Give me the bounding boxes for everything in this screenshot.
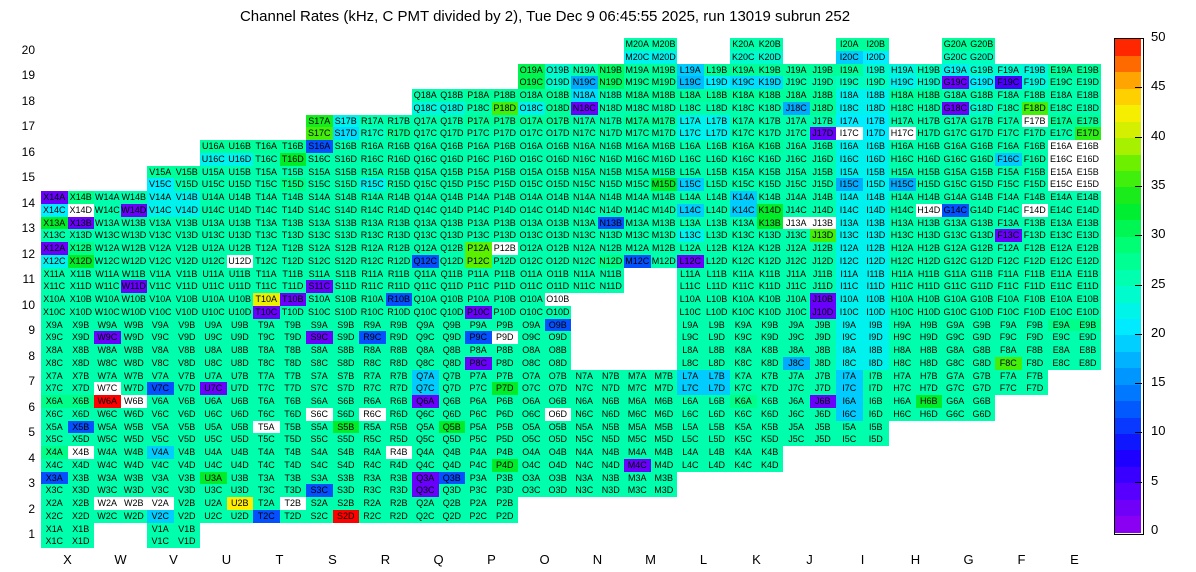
channel-L15D[interactable]: L15D — [704, 178, 731, 191]
channel-W4C[interactable]: W4C — [94, 459, 121, 472]
channel-V5A[interactable]: V5A — [147, 421, 174, 434]
channel-N5A[interactable]: N5A — [571, 421, 598, 434]
channel-V10B[interactable]: V10B — [174, 293, 201, 306]
channel-K13D[interactable]: K13D — [757, 229, 784, 242]
channel-O14D[interactable]: O14D — [545, 204, 572, 217]
channel-X10A[interactable]: X10A — [41, 293, 68, 306]
channel-X6A[interactable]: X6A — [41, 395, 68, 408]
channel-M17D[interactable]: M17D — [651, 127, 678, 140]
channel-W7D[interactable]: W7D — [121, 382, 148, 395]
channel-Q2D[interactable]: Q2D — [439, 510, 466, 523]
channel-V9B[interactable]: V9B — [174, 319, 201, 332]
channel-L13C[interactable]: L13C — [677, 229, 704, 242]
heatmap-cell[interactable]: G6AG6BG6CG6D — [942, 395, 995, 421]
heatmap-cell[interactable]: X6AX6BX6CX6D — [41, 395, 94, 421]
channel-U5A[interactable]: U5A — [200, 421, 227, 434]
channel-E12B[interactable]: E12B — [1075, 242, 1102, 255]
channel-E8D[interactable]: E8D — [1075, 357, 1102, 370]
channel-T16B[interactable]: T16B — [280, 140, 307, 153]
channel-L5C[interactable]: L5C — [677, 433, 704, 446]
channel-S17B[interactable]: S17B — [333, 115, 360, 128]
channel-Q4C[interactable]: Q4C — [412, 459, 439, 472]
channel-F19B[interactable]: F19B — [1022, 64, 1049, 77]
channel-M17B[interactable]: M17B — [651, 115, 678, 128]
channel-Q11A[interactable]: Q11A — [412, 268, 439, 281]
channel-G17A[interactable]: G17A — [942, 115, 969, 128]
channel-P2C[interactable]: P2C — [465, 510, 492, 523]
channel-H19B[interactable]: H19B — [916, 64, 943, 77]
channel-G18B[interactable]: G18B — [969, 89, 996, 102]
channel-S17C[interactable]: S17C — [306, 127, 333, 140]
heatmap-cell[interactable]: L12AL12BL12CL12D — [677, 242, 730, 268]
channel-J17D[interactable]: J17D — [810, 127, 837, 140]
channel-W13B[interactable]: W13B — [121, 217, 148, 230]
channel-E15B[interactable]: E15B — [1075, 166, 1102, 179]
channel-Q3B[interactable]: Q3B — [439, 472, 466, 485]
channel-S3D[interactable]: S3D — [333, 484, 360, 497]
channel-K17C[interactable]: K17C — [730, 127, 757, 140]
channel-T8B[interactable]: T8B — [280, 344, 307, 357]
heatmap-cell[interactable]: H13AH13BH13CH13D — [889, 217, 942, 243]
channel-L16A[interactable]: L16A — [677, 140, 704, 153]
heatmap-cell[interactable]: Q4AQ4BQ4CQ4D — [412, 446, 465, 472]
channel-R6A[interactable]: R6A — [359, 395, 386, 408]
channel-X12A[interactable]: X12A — [41, 242, 68, 255]
heatmap-cell[interactable]: X14AX14BX14CX14D — [41, 191, 94, 217]
channel-P7D[interactable]: P7D — [492, 382, 519, 395]
channel-W6B[interactable]: W6B — [121, 395, 148, 408]
channel-N6B[interactable]: N6B — [598, 395, 625, 408]
channel-I8A[interactable]: I8A — [836, 344, 863, 357]
channel-N4C[interactable]: N4C — [571, 459, 598, 472]
channel-I14C[interactable]: I14C — [836, 204, 863, 217]
channel-T9A[interactable]: T9A — [253, 319, 280, 332]
channel-J13B[interactable]: J13B — [810, 217, 837, 230]
channel-V2A[interactable]: V2A — [147, 497, 174, 510]
channel-T3A[interactable]: T3A — [253, 472, 280, 485]
heatmap-cell[interactable]: F14AF14BF14CF14D — [995, 191, 1048, 217]
channel-P15B[interactable]: P15B — [492, 166, 519, 179]
channel-U8B[interactable]: U8B — [227, 344, 254, 357]
heatmap-cell[interactable]: L8AL8BL8CL8D — [677, 344, 730, 370]
channel-G17B[interactable]: G17B — [969, 115, 996, 128]
channel-V2D[interactable]: V2D — [174, 510, 201, 523]
channel-R11A[interactable]: R11A — [359, 268, 386, 281]
channel-O8B[interactable]: O8B — [545, 344, 572, 357]
channel-F10D[interactable]: F10D — [1022, 306, 1049, 319]
channel-K9A[interactable]: K9A — [730, 319, 757, 332]
channel-J17A[interactable]: J17A — [783, 115, 810, 128]
channel-S8C[interactable]: S8C — [306, 357, 333, 370]
channel-I19B[interactable]: I19B — [863, 64, 890, 77]
channel-G11C[interactable]: G11C — [942, 280, 969, 293]
heatmap-cell[interactable]: V11AV11BV11CV11D — [147, 268, 200, 294]
channel-H17D[interactable]: H17D — [916, 127, 943, 140]
channel-E19A[interactable]: E19A — [1048, 64, 1075, 77]
channel-H17A[interactable]: H17A — [889, 115, 916, 128]
channel-O5A[interactable]: O5A — [518, 421, 545, 434]
channel-F11C[interactable]: F11C — [995, 280, 1022, 293]
channel-K5B[interactable]: K5B — [757, 421, 784, 434]
channel-R2B[interactable]: R2B — [386, 497, 413, 510]
channel-O17D[interactable]: O17D — [545, 127, 572, 140]
heatmap-cell[interactable]: G8AG8BG8CG8D — [942, 344, 995, 370]
channel-H16A[interactable]: H16A — [889, 140, 916, 153]
channel-G9C[interactable]: G9C — [942, 331, 969, 344]
channel-V14C[interactable]: V14C — [147, 204, 174, 217]
heatmap-cell[interactable]: I10AI10BI10CI10D — [836, 293, 889, 319]
channel-Q10C[interactable]: Q10C — [412, 306, 439, 319]
channel-I12B[interactable]: I12B — [863, 242, 890, 255]
channel-F8D[interactable]: F8D — [1022, 357, 1049, 370]
channel-V1C[interactable]: V1C — [147, 535, 174, 548]
channel-F12B[interactable]: F12B — [1022, 242, 1049, 255]
channel-O7B[interactable]: O7B — [545, 370, 572, 383]
heatmap-cell[interactable]: K7AK7BK7CK7D — [730, 370, 783, 396]
channel-H16C[interactable]: H16C — [889, 153, 916, 166]
channel-U9C[interactable]: U9C — [200, 331, 227, 344]
heatmap-cell[interactable]: T3AT3BT3CT3D — [253, 472, 306, 498]
channel-K5C[interactable]: K5C — [730, 433, 757, 446]
channel-U10D[interactable]: U10D — [227, 306, 254, 319]
channel-F18D[interactable]: F18D — [1022, 102, 1049, 115]
channel-K18D[interactable]: K18D — [757, 102, 784, 115]
channel-M4C[interactable]: M4C — [624, 459, 651, 472]
channel-I7B[interactable]: I7B — [863, 370, 890, 383]
channel-J17B[interactable]: J17B — [810, 115, 837, 128]
channel-V2C[interactable]: V2C — [147, 510, 174, 523]
channel-N6A[interactable]: N6A — [571, 395, 598, 408]
channel-N16D[interactable]: N16D — [598, 153, 625, 166]
heatmap-cell[interactable]: U16AU16BU16CU16D — [200, 140, 253, 166]
channel-G7C[interactable]: G7C — [942, 382, 969, 395]
channel-I7A[interactable]: I7A — [836, 370, 863, 383]
channel-W7A[interactable]: W7A — [94, 370, 121, 383]
channel-Q3A[interactable]: Q3A — [412, 472, 439, 485]
channel-U11D[interactable]: U11D — [227, 280, 254, 293]
channel-L13A[interactable]: L13A — [677, 217, 704, 230]
channel-F12A[interactable]: F12A — [995, 242, 1022, 255]
channel-T3C[interactable]: T3C — [253, 484, 280, 497]
channel-H15B[interactable]: H15B — [916, 166, 943, 179]
channel-Q11D[interactable]: Q11D — [439, 280, 466, 293]
heatmap-cell[interactable]: W3AW3BW3CW3D — [94, 472, 147, 498]
channel-S2D[interactable]: S2D — [333, 510, 360, 523]
channel-Q11B[interactable]: Q11B — [439, 268, 466, 281]
channel-E10B[interactable]: E10B — [1075, 293, 1102, 306]
channel-J19C[interactable]: J19C — [783, 76, 810, 89]
channel-X6D[interactable]: X6D — [68, 408, 95, 421]
heatmap-cell[interactable]: P7AP7BP7CP7D — [465, 370, 518, 396]
channel-N5C[interactable]: N5C — [571, 433, 598, 446]
channel-Q15A[interactable]: Q15A — [412, 166, 439, 179]
heatmap-cell[interactable]: S6AS6BS6CS6D — [306, 395, 359, 421]
channel-R13C[interactable]: R13C — [359, 229, 386, 242]
channel-N17C[interactable]: N17C — [571, 127, 598, 140]
channel-J15A[interactable]: J15A — [783, 166, 810, 179]
heatmap-cell[interactable]: P15AP15BP15CP15D — [465, 166, 518, 192]
channel-Q15D[interactable]: Q15D — [439, 178, 466, 191]
heatmap-cell[interactable]: G20AG20BG20CG20D — [942, 38, 995, 64]
channel-P4A[interactable]: P4A — [465, 446, 492, 459]
channel-Q15C[interactable]: Q15C — [412, 178, 439, 191]
channel-G10D[interactable]: G10D — [969, 306, 996, 319]
channel-V1A[interactable]: V1A — [147, 523, 174, 536]
heatmap-cell[interactable]: K18AK18BK18CK18D — [730, 89, 783, 115]
channel-W13A[interactable]: W13A — [94, 217, 121, 230]
channel-V9D[interactable]: V9D — [174, 331, 201, 344]
channel-U9A[interactable]: U9A — [200, 319, 227, 332]
channel-X8D[interactable]: X8D — [68, 357, 95, 370]
channel-P16B[interactable]: P16B — [492, 140, 519, 153]
channel-F17A[interactable]: F17A — [995, 115, 1022, 128]
channel-X5D[interactable]: X5D — [68, 433, 95, 446]
heatmap-cell[interactable]: U14AU14BU14CU14D — [200, 191, 253, 217]
channel-I10D[interactable]: I10D — [863, 306, 890, 319]
channel-L12B[interactable]: L12B — [704, 242, 731, 255]
channel-J13C[interactable]: J13C — [783, 229, 810, 242]
channel-F15B[interactable]: F15B — [1022, 166, 1049, 179]
channel-V4A[interactable]: V4A — [147, 446, 174, 459]
channel-V8D[interactable]: V8D — [174, 357, 201, 370]
channel-W8B[interactable]: W8B — [121, 344, 148, 357]
channel-H7C[interactable]: H7C — [889, 382, 916, 395]
channel-L8C[interactable]: L8C — [677, 357, 704, 370]
channel-P13D[interactable]: P13D — [492, 229, 519, 242]
channel-N4B[interactable]: N4B — [598, 446, 625, 459]
channel-O15C[interactable]: O15C — [518, 178, 545, 191]
channel-S4C[interactable]: S4C — [306, 459, 333, 472]
channel-T11A[interactable]: T11A — [253, 268, 280, 281]
channel-N18D[interactable]: N18D — [598, 102, 625, 115]
heatmap-cell[interactable]: J13AJ13BJ13CJ13D — [783, 217, 836, 243]
heatmap-cell[interactable]: U15AU15BU15CU15D — [200, 166, 253, 192]
channel-Q17C[interactable]: Q17C — [412, 127, 439, 140]
channel-O19D[interactable]: O19D — [545, 76, 572, 89]
heatmap-cell[interactable]: H15AH15BH15CH15D — [889, 166, 942, 192]
channel-S17A[interactable]: S17A — [306, 115, 333, 128]
channel-T4D[interactable]: T4D — [280, 459, 307, 472]
channel-Q4B[interactable]: Q4B — [439, 446, 466, 459]
channel-S13C[interactable]: S13C — [306, 229, 333, 242]
channel-G10B[interactable]: G10B — [969, 293, 996, 306]
heatmap-cell[interactable]: X8AX8BX8CX8D — [41, 344, 94, 370]
channel-I13B[interactable]: I13B — [863, 217, 890, 230]
channel-R9D[interactable]: R9D — [386, 331, 413, 344]
channel-I11B[interactable]: I11B — [863, 268, 890, 281]
channel-Q17B[interactable]: Q17B — [439, 115, 466, 128]
channel-G8D[interactable]: G8D — [969, 357, 996, 370]
channel-J8D[interactable]: J8D — [810, 357, 837, 370]
channel-T8A[interactable]: T8A — [253, 344, 280, 357]
channel-G11D[interactable]: G11D — [969, 280, 996, 293]
channel-M19A[interactable]: M19A — [624, 64, 651, 77]
heatmap-cell[interactable]: S9AS9BS9CS9D — [306, 319, 359, 345]
channel-K19B[interactable]: K19B — [757, 64, 784, 77]
channel-V11C[interactable]: V11C — [147, 280, 174, 293]
channel-I12D[interactable]: I12D — [863, 255, 890, 268]
channel-E18C[interactable]: E18C — [1048, 102, 1075, 115]
channel-V9C[interactable]: V9C — [147, 331, 174, 344]
channel-G10A[interactable]: G10A — [942, 293, 969, 306]
channel-P8A[interactable]: P8A — [465, 344, 492, 357]
heatmap-cell[interactable]: J7AJ7BJ7CJ7D — [783, 370, 836, 396]
channel-X13C[interactable]: X13C — [41, 229, 68, 242]
heatmap-cell[interactable]: S17AS17BS17CS17D — [306, 115, 359, 141]
channel-M12D[interactable]: M12D — [651, 255, 678, 268]
heatmap-cell[interactable]: Q14AQ14BQ14CQ14D — [412, 191, 465, 217]
channel-U3C[interactable]: U3C — [200, 484, 227, 497]
channel-U5B[interactable]: U5B — [227, 421, 254, 434]
channel-T8D[interactable]: T8D — [280, 357, 307, 370]
channel-R17D[interactable]: R17D — [386, 127, 413, 140]
channel-F13D[interactable]: F13D — [1022, 229, 1049, 242]
channel-O18D[interactable]: O18D — [545, 102, 572, 115]
channel-R2C[interactable]: R2C — [359, 510, 386, 523]
channel-V3D[interactable]: V3D — [174, 484, 201, 497]
heatmap-cell[interactable]: P8AP8BP8CP8D — [465, 344, 518, 370]
channel-V11B[interactable]: V11B — [174, 268, 201, 281]
channel-P11D[interactable]: P11D — [492, 280, 519, 293]
heatmap-cell[interactable]: R5AR5BR5CR5D — [359, 421, 412, 447]
channel-K4C[interactable]: K4C — [730, 459, 757, 472]
heatmap-cell[interactable]: W10AW10BW10CW10D — [94, 293, 147, 319]
channel-Q10A[interactable]: Q10A — [412, 293, 439, 306]
channel-P13A[interactable]: P13A — [465, 217, 492, 230]
channel-P18A[interactable]: P18A — [465, 89, 492, 102]
heatmap-cell[interactable]: X13AX13BX13CX13D — [41, 217, 94, 243]
heatmap-cell[interactable]: P9AP9BP9CP9D — [465, 319, 518, 345]
heatmap-cell[interactable]: L13AL13BL13CL13D — [677, 217, 730, 243]
heatmap-cell[interactable]: J12AJ12BJ12CJ12D — [783, 242, 836, 268]
channel-O7C[interactable]: O7C — [518, 382, 545, 395]
channel-I5B[interactable]: I5B — [863, 421, 890, 434]
channel-I19A[interactable]: I19A — [836, 64, 863, 77]
heatmap-cell[interactable]: X4AX4BX4CX4D — [41, 446, 94, 472]
channel-K6B[interactable]: K6B — [757, 395, 784, 408]
heatmap-cell[interactable]: V7AV7BV7CV7D — [147, 370, 200, 396]
channel-V7D[interactable]: V7D — [174, 382, 201, 395]
channel-T14D[interactable]: T14D — [280, 204, 307, 217]
channel-Q3D[interactable]: Q3D — [439, 484, 466, 497]
channel-O14B[interactable]: O14B — [545, 191, 572, 204]
heatmap-cell[interactable]: V12AV12BV12CV12D — [147, 242, 200, 268]
channel-I7D[interactable]: I7D — [863, 382, 890, 395]
channel-O16D[interactable]: O16D — [545, 153, 572, 166]
channel-F9B[interactable]: F9B — [1022, 319, 1049, 332]
channel-S11A[interactable]: S11A — [306, 268, 333, 281]
heatmap-cell[interactable]: N13AN13BN13CN13D — [571, 217, 624, 243]
channel-J10C[interactable]: J10C — [783, 306, 810, 319]
heatmap-cell[interactable]: N14AN14BN14CN14D — [571, 191, 624, 217]
channel-T15B[interactable]: T15B — [280, 166, 307, 179]
channel-V8A[interactable]: V8A — [147, 344, 174, 357]
channel-U14D[interactable]: U14D — [227, 204, 254, 217]
channel-U6A[interactable]: U6A — [200, 395, 227, 408]
channel-K8A[interactable]: K8A — [730, 344, 757, 357]
heatmap-cell[interactable]: L14AL14BL14CL14D — [677, 191, 730, 217]
channel-W13D[interactable]: W13D — [121, 229, 148, 242]
channel-M17A[interactable]: M17A — [624, 115, 651, 128]
channel-I8D[interactable]: I8D — [863, 357, 890, 370]
channel-Q18A[interactable]: Q18A — [412, 89, 439, 102]
heatmap-cell[interactable]: I7AI7BI7CI7D — [836, 370, 889, 396]
heatmap-cell[interactable]: K20AK20BK20CK20D — [730, 38, 783, 64]
channel-E12C[interactable]: E12C — [1048, 255, 1075, 268]
channel-G8C[interactable]: G8C — [942, 357, 969, 370]
channel-H8D[interactable]: H8D — [916, 357, 943, 370]
channel-L13D[interactable]: L13D — [704, 229, 731, 242]
channel-M13A[interactable]: M13A — [624, 217, 651, 230]
channel-H13A[interactable]: H13A — [889, 217, 916, 230]
channel-T4C[interactable]: T4C — [253, 459, 280, 472]
channel-O6C[interactable]: O6C — [518, 408, 545, 421]
heatmap-cell[interactable]: S16AS16BS16CS16D — [306, 140, 359, 166]
channel-O8A[interactable]: O8A — [518, 344, 545, 357]
channel-M3D[interactable]: M3D — [651, 484, 678, 497]
channel-R17A[interactable]: R17A — [359, 115, 386, 128]
heatmap-cell[interactable]: V10AV10BV10CV10D — [147, 293, 200, 319]
heatmap-cell[interactable]: I11AI11BI11CI11D — [836, 268, 889, 294]
heatmap-cell[interactable]: F15AF15BF15CF15D — [995, 166, 1048, 192]
heatmap-cell[interactable]: U2AU2BU2CU2D — [200, 497, 253, 523]
channel-I10C[interactable]: I10C — [836, 306, 863, 319]
channel-U8D[interactable]: U8D — [227, 357, 254, 370]
channel-Q9C[interactable]: Q9C — [412, 331, 439, 344]
channel-V2B[interactable]: V2B — [174, 497, 201, 510]
channel-J6B[interactable]: J6B — [810, 395, 837, 408]
channel-L12D[interactable]: L12D — [704, 255, 731, 268]
heatmap-cell[interactable]: V2AV2BV2CV2D — [147, 497, 200, 523]
channel-I8B[interactable]: I8B — [863, 344, 890, 357]
heatmap-cell[interactable]: R12AR12BR12CR12D — [359, 242, 412, 268]
channel-K12B[interactable]: K12B — [757, 242, 784, 255]
channel-N15D[interactable]: N15D — [598, 178, 625, 191]
channel-O10B[interactable]: O10B — [545, 293, 572, 306]
channel-P11B[interactable]: P11B — [492, 268, 519, 281]
channel-G15C[interactable]: G15C — [942, 178, 969, 191]
channel-F11B[interactable]: F11B — [1022, 268, 1049, 281]
channel-V12C[interactable]: V12C — [147, 255, 174, 268]
channel-R12D[interactable]: R12D — [386, 255, 413, 268]
heatmap-cell[interactable]: T14AT14BT14CT14D — [253, 191, 306, 217]
channel-L6D[interactable]: L6D — [704, 408, 731, 421]
channel-P17C[interactable]: P17C — [465, 127, 492, 140]
channel-E15A[interactable]: E15A — [1048, 166, 1075, 179]
channel-S9D[interactable]: S9D — [333, 331, 360, 344]
channel-Q9D[interactable]: Q9D — [439, 331, 466, 344]
channel-O3D[interactable]: O3D — [545, 484, 572, 497]
channel-L11A[interactable]: L11A — [677, 268, 704, 281]
channel-L8B[interactable]: L8B — [704, 344, 731, 357]
channel-Q4A[interactable]: Q4A — [412, 446, 439, 459]
heatmap-cell[interactable]: R15AR15BR15CR15D — [359, 166, 412, 192]
channel-L14C[interactable]: L14C — [677, 204, 704, 217]
channel-N19D[interactable]: N19D — [598, 76, 625, 89]
channel-X1B[interactable]: X1B — [68, 523, 95, 536]
heatmap-cell[interactable]: W8AW8BW8CW8D — [94, 344, 147, 370]
channel-L19D[interactable]: L19D — [704, 76, 731, 89]
channel-E11C[interactable]: E11C — [1048, 280, 1075, 293]
channel-O7A[interactable]: O7A — [518, 370, 545, 383]
channel-J15C[interactable]: J15C — [783, 178, 810, 191]
heatmap-cell[interactable]: O16AO16BO16CO16D — [518, 140, 571, 166]
heatmap-cell[interactable]: J14AJ14BJ14CJ14D — [783, 191, 836, 217]
heatmap-cell[interactable]: M4AM4BM4CM4D — [624, 446, 677, 472]
heatmap-cell[interactable]: V14AV14BV14CV14D — [147, 191, 200, 217]
channel-V10D[interactable]: V10D — [174, 306, 201, 319]
channel-R5B[interactable]: R5B — [386, 421, 413, 434]
